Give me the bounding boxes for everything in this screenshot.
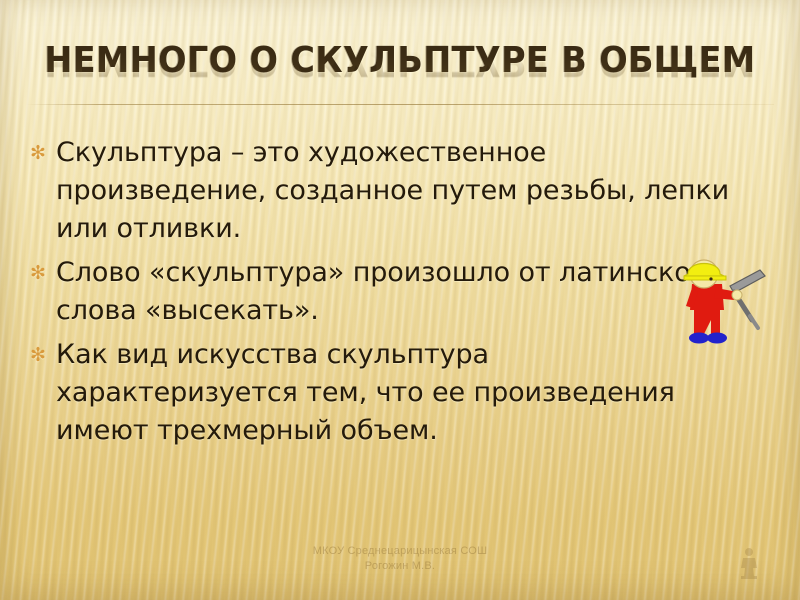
- footer-school-name: МКОУ Среднецарицынская СОШ: [0, 544, 800, 559]
- bullet-star-icon: ✻: [30, 134, 56, 174]
- bullet-list: ✻ Скульптура – это художественное произв…: [30, 134, 730, 456]
- title-divider-rule: [26, 104, 774, 105]
- footer-author-name: Рогожин М.В.: [0, 559, 800, 574]
- bullet-item: ✻ Слово «скульптура» произошло от латинс…: [30, 254, 730, 330]
- bullet-star-icon: ✻: [30, 336, 56, 376]
- bullet-text: Скульптура – это художественное произвед…: [56, 134, 730, 248]
- statue-watermark-icon: [736, 546, 762, 580]
- sculptor-worker-with-chisel-icon: [668, 248, 772, 348]
- bullet-text: Как вид искусства скульптура характеризу…: [56, 336, 730, 450]
- bullet-star-icon: ✻: [30, 254, 56, 294]
- bullet-item: ✻ Скульптура – это художественное произв…: [30, 134, 730, 248]
- footer-credits: МКОУ Среднецарицынская СОШ Рогожин М.В.: [0, 544, 800, 574]
- title-block: НЕМНОГО О СКУЛЬПТУРЕ В ОБЩЕМ НЕМНОГО О С…: [0, 42, 800, 119]
- bullet-item: ✻ Как вид искусства скульптура характери…: [30, 336, 730, 450]
- slide-title-reflection: НЕМНОГО О СКУЛЬПТУРЕ В ОБЩЕМ: [28, 43, 772, 81]
- slide-canvas: НЕМНОГО О СКУЛЬПТУРЕ В ОБЩЕМ НЕМНОГО О С…: [0, 0, 800, 600]
- bullet-text: Слово «скульптура» произошло от латинско…: [56, 254, 730, 330]
